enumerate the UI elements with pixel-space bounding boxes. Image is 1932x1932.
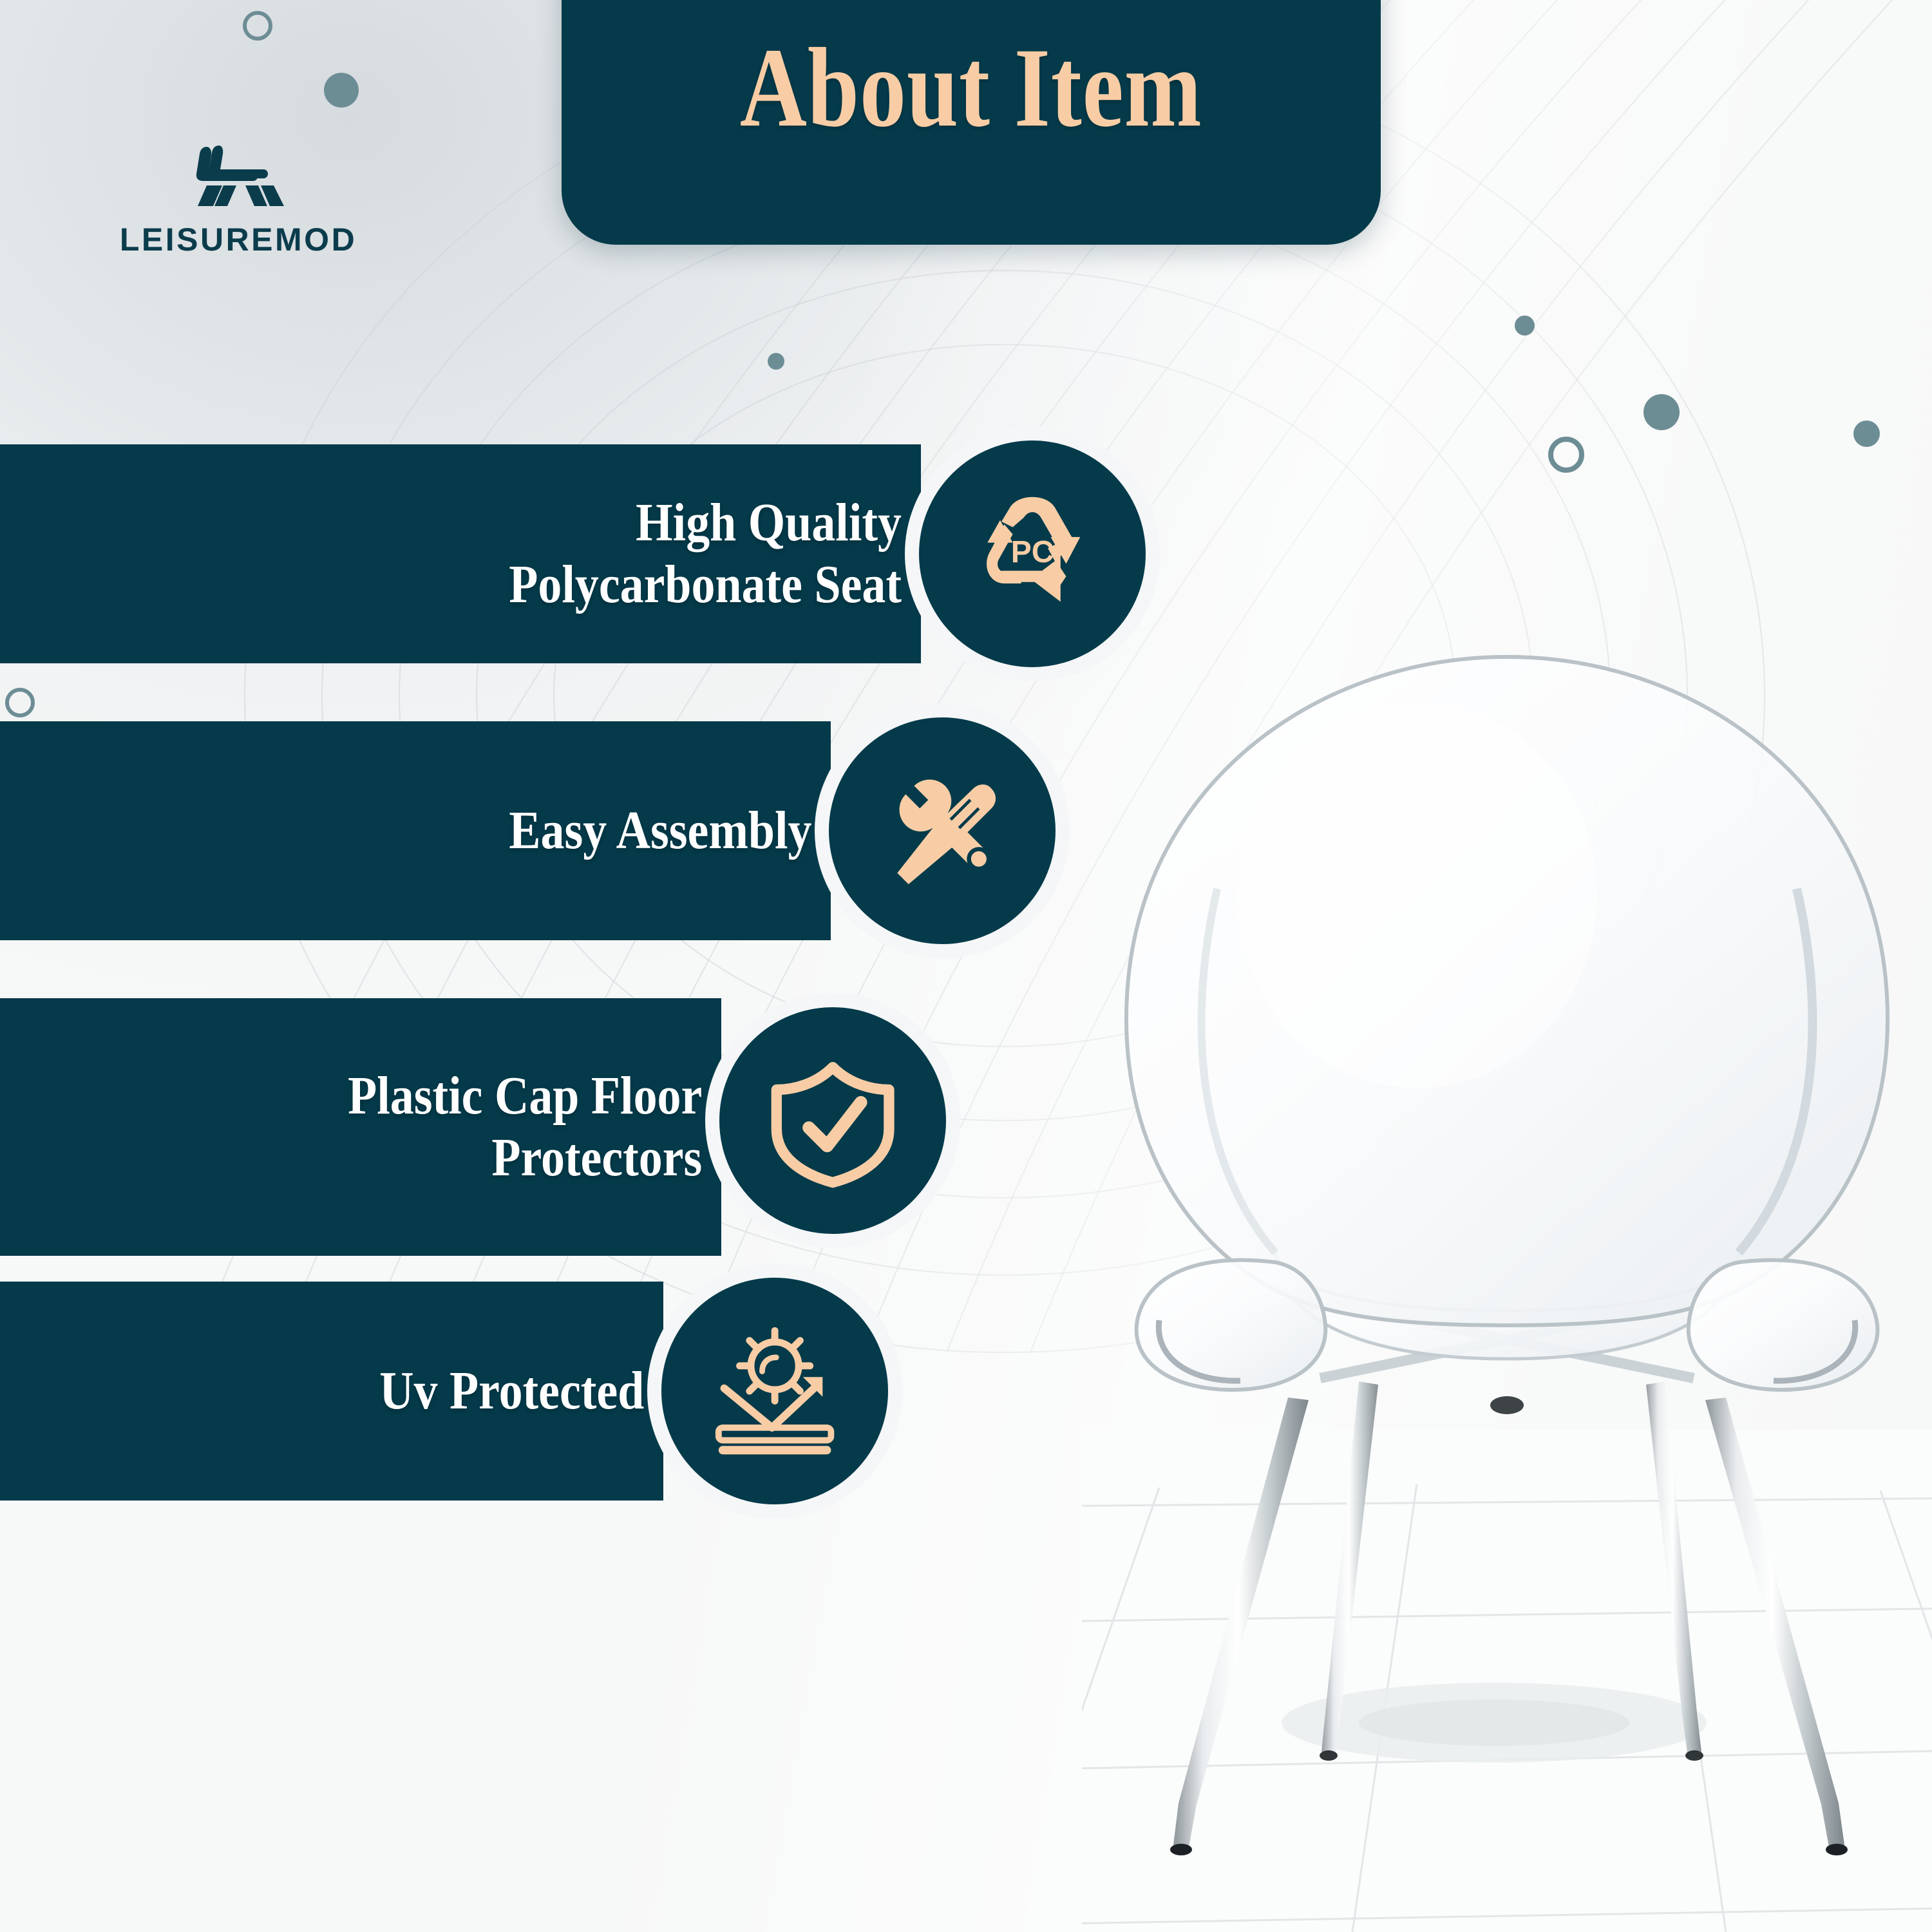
feature-bar-2: Easy Assembly [0,721,831,940]
feature-row-4[interactable]: Uv Protected [0,1282,902,1501]
feature-label-2: Easy Assembly [509,800,831,862]
feature-label-1: High Quality Polycarbonate Seat [509,492,921,616]
shield-check-icon [762,1050,903,1191]
chaise-lounge-chair-icon [184,143,293,211]
feature-row-1[interactable]: High Quality Polycarbonate Seat PC [0,444,1159,663]
clear-chair-illustration [1082,618,1932,1932]
brand-logo: LEISUREMOD [132,143,345,258]
feature-badge-3[interactable] [705,993,960,1248]
recycling-code-text: PC [1011,535,1054,569]
feature-bar-1: High Quality Polycarbonate Seat [0,444,921,663]
wrench-screwdriver-icon [872,761,1012,901]
decor-ring-2 [1548,437,1584,473]
product-image [1082,618,1932,1932]
feature-row-2[interactable]: Easy Assembly [0,721,1069,940]
chair-legs [1170,1381,1848,1855]
decor-ring-3 [5,688,35,717]
decor-dot-1 [324,73,359,108]
feature-badge-1[interactable]: PC [905,426,1160,681]
feature-bar-3: Plastic Cap Floor Protectors [0,998,721,1256]
decor-dot-5 [1853,421,1880,447]
decor-dot-3 [1515,316,1535,336]
feature-label-3: Plastic Cap Floor Protectors [348,1065,721,1189]
decor-ring-1 [243,11,272,41]
feature-badge-2[interactable] [815,703,1070,958]
feature-label-4: Uv Protected [379,1360,663,1422]
decor-dot-4 [1643,394,1680,430]
feature-bar-4: Uv Protected [0,1282,663,1501]
decor-dot-2 [768,353,784,370]
chair-left-curl [1137,1260,1326,1390]
recycling-pc-icon: PC [962,484,1103,624]
page-title: About Item [740,32,1202,245]
feature-badge-4[interactable] [647,1264,902,1519]
chair-right-curl [1689,1260,1878,1390]
uv-sun-reflect-icon [705,1321,845,1461]
header-banner: About Item [562,0,1381,245]
feature-row-3[interactable]: Plastic Cap Floor Protectors [0,998,960,1256]
brand-name: LEISUREMOD [120,221,357,258]
